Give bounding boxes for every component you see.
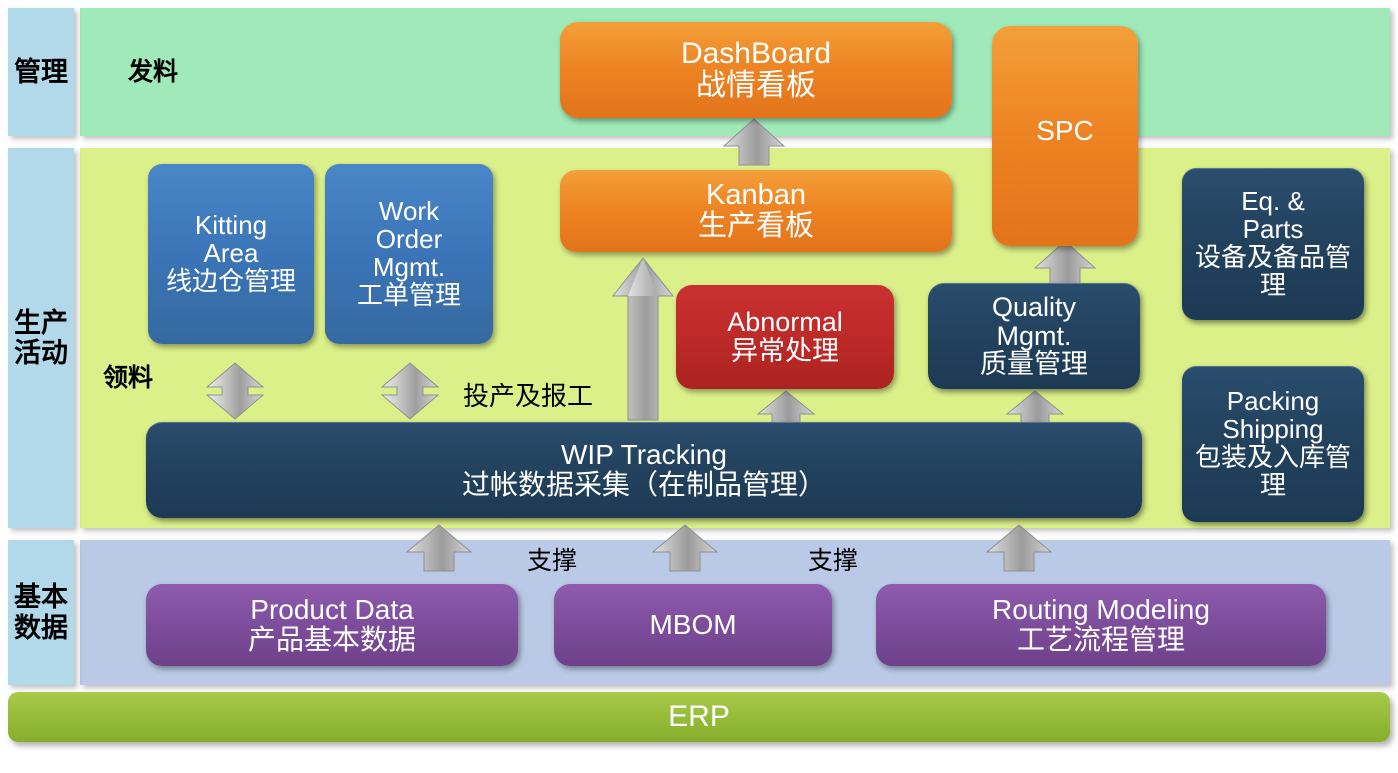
node-routing-modeling[interactable]: Routing Modeling 工艺流程管理 <box>876 584 1326 666</box>
node-mbom[interactable]: MBOM <box>554 584 832 666</box>
node-spc[interactable]: SPC <box>992 26 1138 246</box>
node-erp-en: ERP <box>668 701 730 733</box>
node-eqparts-en1: Eq. & <box>1241 188 1305 216</box>
arrow-productdata-to-wip <box>406 524 472 572</box>
node-spc-en: SPC <box>1036 116 1094 146</box>
node-routing-cn: 工艺流程管理 <box>1017 625 1185 655</box>
arrow-kitting-wip-bidirectional <box>206 362 264 420</box>
node-mbom-en: MBOM <box>649 610 736 640</box>
vertical-label-production-text: 生产活动 <box>8 308 74 368</box>
node-wip-en: WIP Tracking <box>561 440 727 470</box>
arrow-wip-to-kanban <box>612 256 674 422</box>
node-dashboard-cn: 战情看板 <box>696 70 816 102</box>
diagram-canvas: 管理 生产活动 基本数据 <box>0 0 1398 773</box>
node-workorder-en1: Work <box>379 198 439 226</box>
node-workorder-en2: Order <box>376 226 442 254</box>
arrow-routing-to-wip <box>986 524 1052 572</box>
node-wip-tracking[interactable]: WIP Tracking 过帐数据采集（在制品管理） <box>146 422 1142 518</box>
node-work-order-mgmt[interactable]: Work Order Mgmt. 工单管理 <box>325 164 493 344</box>
node-dashboard-en: DashBoard <box>681 38 831 70</box>
node-kanban[interactable]: Kanban 生产看板 <box>560 170 952 252</box>
vertical-label-production: 生产活动 <box>8 148 74 528</box>
arrow-workorder-wip-bidirectional <box>381 362 439 420</box>
node-wip-cn: 过帐数据采集（在制品管理） <box>462 470 826 500</box>
node-abnormal-cn: 异常处理 <box>731 337 839 366</box>
vertical-label-management: 管理 <box>8 8 74 136</box>
label-zhi-cheng-1: 支撑 <box>527 541 577 577</box>
node-eq-and-parts[interactable]: Eq. & Parts 设备及备品管理 <box>1182 168 1364 320</box>
node-packing-shipping[interactable]: Packing Shipping 包装及入库管理 <box>1182 366 1364 522</box>
node-routing-en: Routing Modeling <box>992 595 1210 625</box>
node-packing-en1: Packing <box>1227 388 1320 416</box>
node-productdata-en: Product Data <box>250 595 413 625</box>
label-fa-liao: 发料 <box>128 52 178 88</box>
node-packing-en2: Shipping <box>1222 416 1323 444</box>
node-productdata-cn: 产品基本数据 <box>248 625 416 655</box>
node-workorder-en3: Mgmt. <box>373 254 445 282</box>
vertical-label-basic-data-text: 基本数据 <box>8 582 74 642</box>
node-kitting-cn: 线边仓管理 <box>166 268 296 296</box>
arrow-quality-to-spc <box>1034 240 1096 288</box>
node-kanban-cn: 生产看板 <box>698 211 814 242</box>
node-abnormal[interactable]: Abnormal 异常处理 <box>676 285 894 389</box>
node-dashboard[interactable]: DashBoard 战情看板 <box>560 22 952 118</box>
node-quality-cn: 质量管理 <box>980 350 1088 379</box>
vertical-label-management-text: 管理 <box>14 57 68 87</box>
node-kanban-en: Kanban <box>706 180 806 211</box>
node-quality-en2: Mgmt. <box>996 322 1071 351</box>
label-ling-liao: 领料 <box>103 358 153 394</box>
node-quality-mgmt[interactable]: Quality Mgmt. 质量管理 <box>928 283 1140 389</box>
node-kitting-en1: Kitting <box>195 212 267 240</box>
node-packing-cn: 包装及入库管理 <box>1188 444 1358 500</box>
node-quality-en1: Quality <box>992 293 1076 322</box>
node-kitting-en2: Area <box>204 240 259 268</box>
node-workorder-cn: 工单管理 <box>357 282 461 310</box>
arrow-kanban-to-dashboard <box>723 118 785 166</box>
arrow-mbom-to-wip <box>652 524 718 572</box>
label-tou-chan-ji-bao-gong: 投产及报工 <box>463 376 593 413</box>
vertical-label-basic-data: 基本数据 <box>8 540 74 685</box>
node-abnormal-en: Abnormal <box>727 308 843 337</box>
node-kitting-area[interactable]: Kitting Area 线边仓管理 <box>148 164 314 344</box>
node-eqparts-en2: Parts <box>1243 216 1304 244</box>
node-erp[interactable]: ERP <box>8 692 1390 742</box>
node-product-data[interactable]: Product Data 产品基本数据 <box>146 584 518 666</box>
node-eqparts-cn: 设备及备品管理 <box>1188 244 1358 300</box>
label-zhi-cheng-2: 支撑 <box>808 541 858 577</box>
